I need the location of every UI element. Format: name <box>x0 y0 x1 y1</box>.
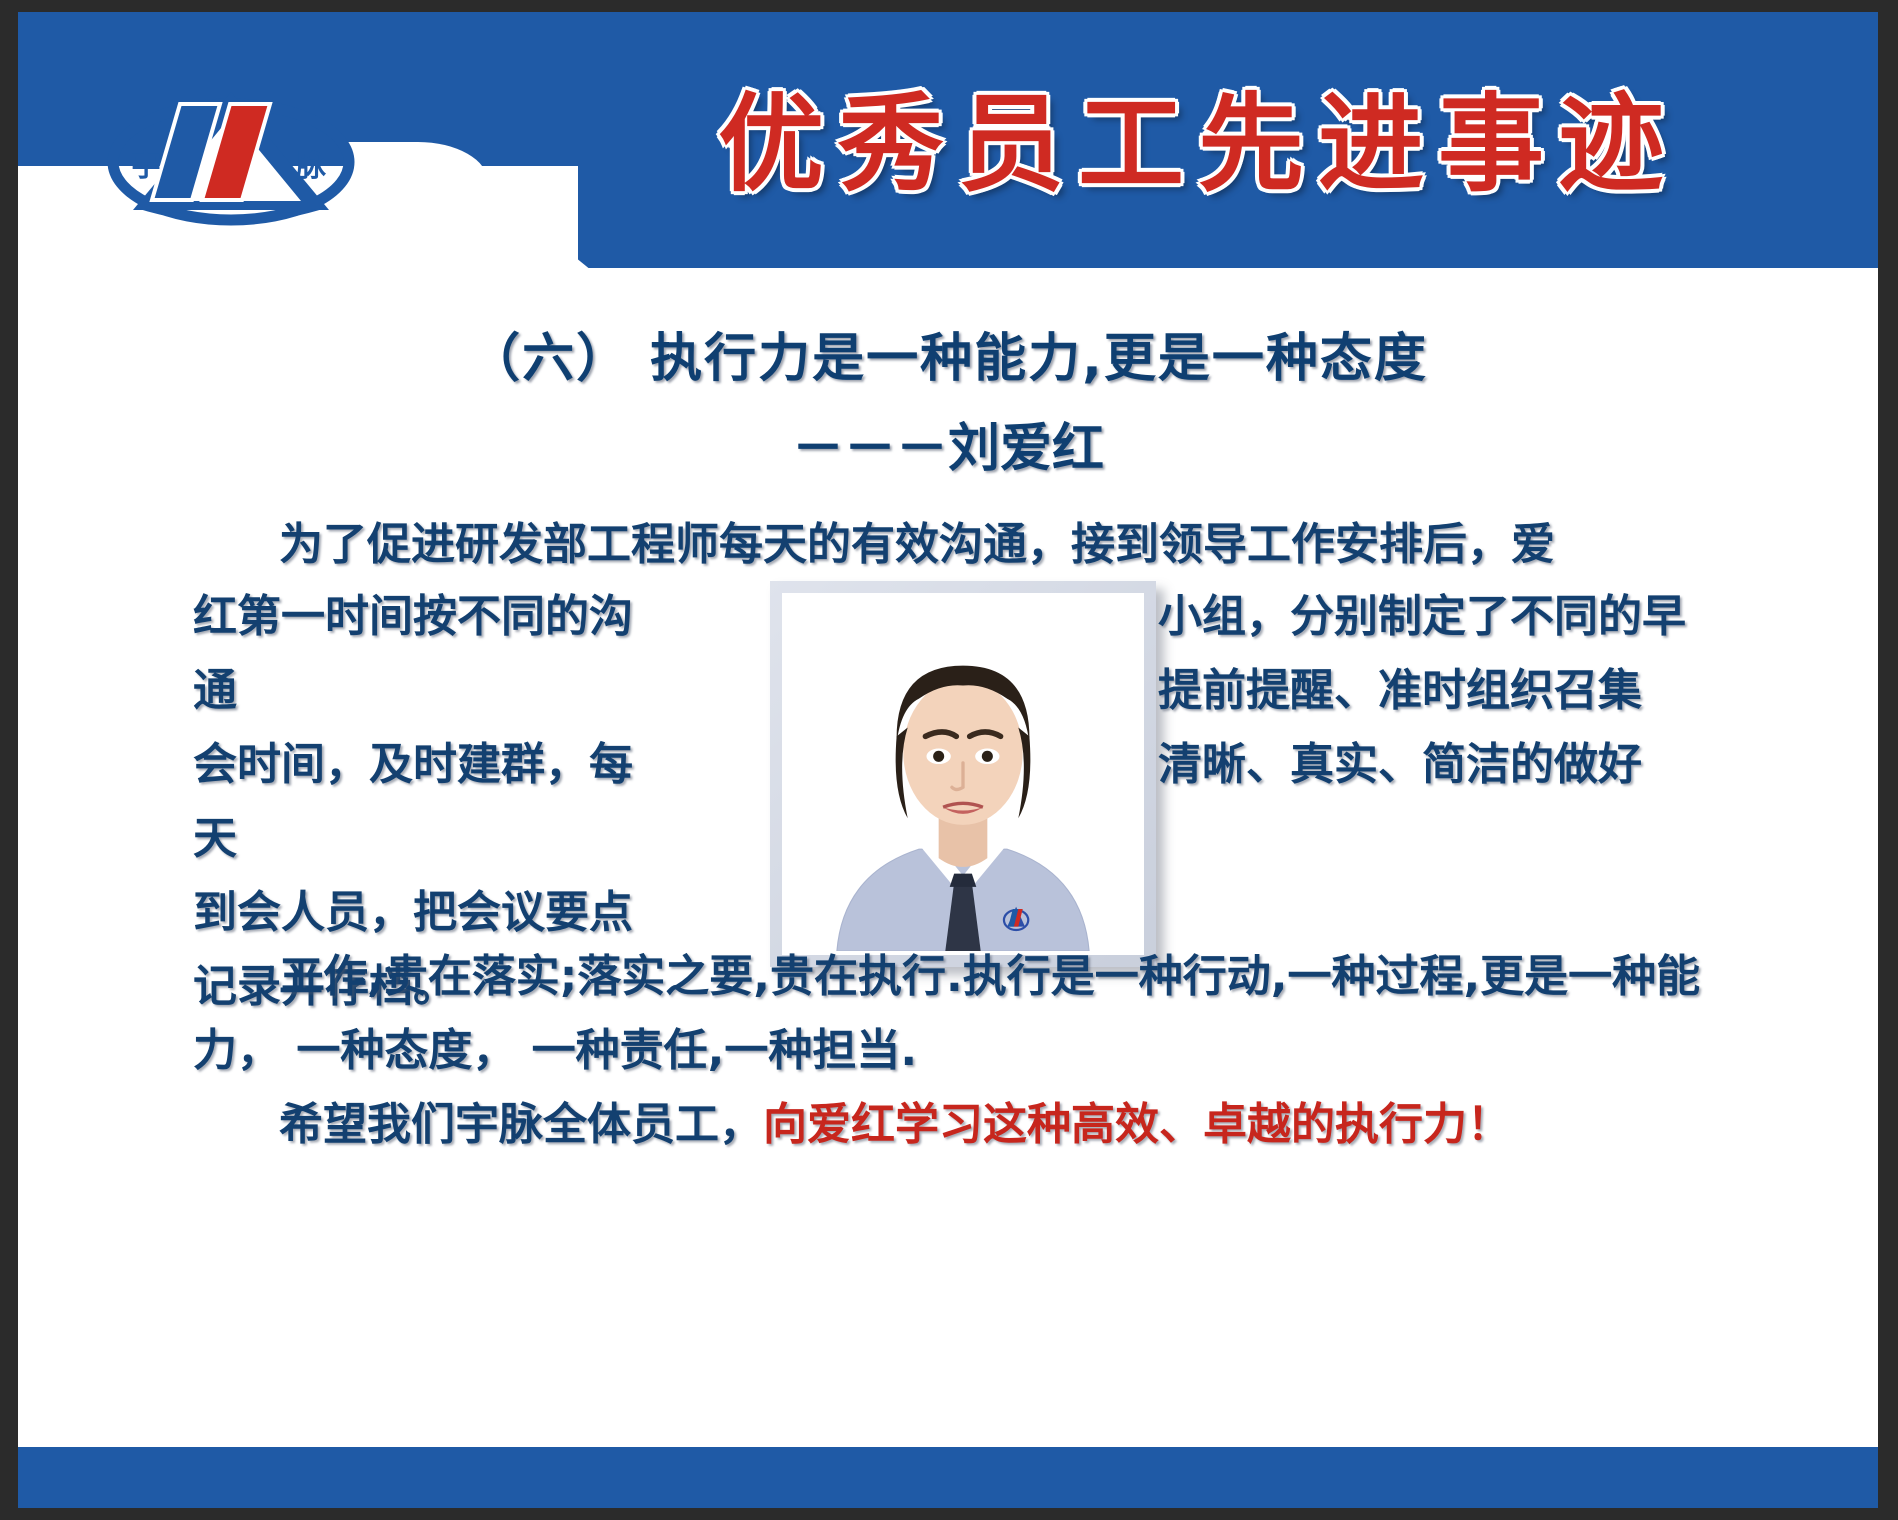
left-column-line: 到会人员，把会议要点 <box>193 876 663 950</box>
slide-header-banner: 宇 脉 优秀员工先进事迹 <box>18 12 1878 268</box>
slide-footer-bar <box>18 1447 1878 1508</box>
right-column-line: 提前提醒、准时组织召集 <box>1158 654 1718 728</box>
paragraph-right-column: 小组，分别制定了不同的早 提前提醒、准时组织召集 清晰、真实、简洁的做好 <box>1158 580 1718 802</box>
closing-text-blue: 希望我们宇脉全体员工， <box>279 1099 763 1150</box>
slide-body: （六） 执行力是一种能力,更是一种态度 －－－刘爱红 为了促进研发部工程师每天的… <box>18 268 1878 1447</box>
right-column-line: 小组，分别制定了不同的早 <box>1158 580 1718 654</box>
employee-photo-frame <box>770 581 1156 967</box>
closing-text-red: 向爱红学习这种高效、卓越的执行力！ <box>763 1099 1511 1150</box>
logo-right-character: 脉 <box>296 149 327 184</box>
left-column-line: 会时间，及时建群，每天 <box>193 728 663 876</box>
paragraph-execution-quote: 工作,贵在落实;落实之要,贵在执行.执行是一种行动,一种过程,更是一种能力， 一… <box>193 940 1713 1088</box>
section-heading-line-1: （六） 执行力是一种能力,更是一种态度 <box>18 330 1878 388</box>
paragraph-closing: 希望我们宇脉全体员工，向爱红学习这种高效、卓越的执行力！ <box>193 1088 1713 1162</box>
right-column-line: 清晰、真实、简洁的做好 <box>1158 728 1718 802</box>
employee-portrait <box>782 593 1144 955</box>
logo-left-character: 宇 <box>131 149 161 184</box>
paragraph-intro: 为了促进研发部工程师每天的有效沟通，接到领导工作安排后，爱 <box>193 508 1713 582</box>
page-title: 优秀员工先进事迹 <box>538 70 1858 220</box>
section-heading-author: －－－刘爱红 <box>18 420 1878 478</box>
slide-canvas: 宇 脉 优秀员工先进事迹 （六） 执行力是一种能力,更是一种态度 －－－刘爱红 … <box>18 12 1878 1508</box>
yumai-company-logo: 宇 脉 <box>96 76 366 226</box>
left-column-line: 红第一时间按不同的沟通 <box>193 580 663 728</box>
